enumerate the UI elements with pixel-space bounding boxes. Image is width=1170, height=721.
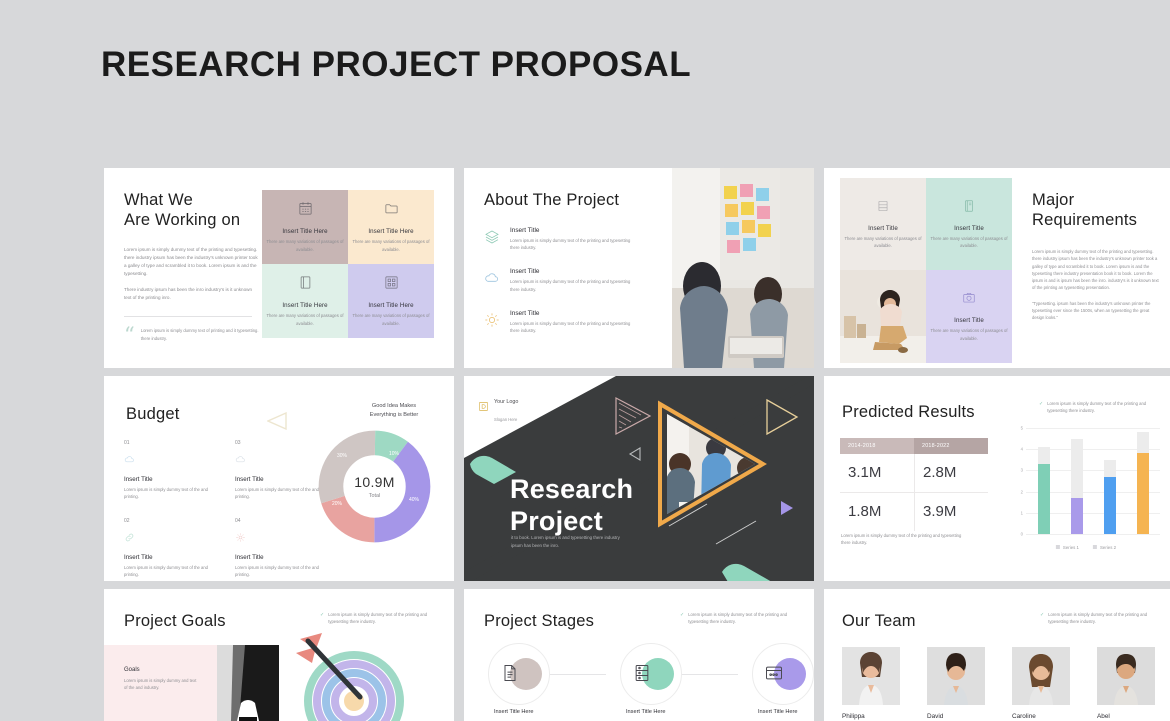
bar-series1 bbox=[1071, 498, 1083, 534]
slide-our-team[interactable]: Our Team ✓ Lorem ipsum is simply dummy t… bbox=[824, 589, 1170, 721]
y-tick: 4 bbox=[1021, 447, 1023, 452]
layers-icon bbox=[484, 227, 501, 251]
avatar bbox=[1097, 647, 1155, 705]
team-member[interactable]: Caroline bbox=[1012, 647, 1070, 720]
slide6-title: Predicted Results bbox=[842, 402, 975, 422]
team-member-name: Philippa bbox=[842, 713, 900, 720]
table-row: 1.8M 3.9M bbox=[840, 493, 988, 531]
goals-panel-desc: Lorem ipsum is simply dummy and text of … bbox=[124, 677, 198, 691]
legend-entry: Series 1 bbox=[1056, 545, 1079, 550]
table-header-row: 2014-2018 2018-2022 bbox=[840, 438, 988, 454]
tile-title: Insert Title bbox=[868, 225, 898, 232]
budget-item-desc: Lorem ipsum is simply dummy text of the … bbox=[124, 564, 213, 578]
table-row: 3.1M 2.8M bbox=[840, 454, 988, 493]
donut-svg bbox=[317, 429, 432, 544]
about-item-title: Insert Title bbox=[510, 227, 632, 234]
goals-target bbox=[282, 627, 410, 721]
logo-slogan: Slogan Here bbox=[494, 417, 517, 422]
tile-desc: There are many variations of passages of… bbox=[844, 235, 922, 249]
slide7-title: Project Goals bbox=[124, 611, 226, 631]
camera-icon bbox=[962, 291, 976, 310]
tile-title: Insert Title Here bbox=[282, 302, 327, 309]
check-icon: ✓ bbox=[1040, 611, 1044, 625]
team-members: Philippa David bbox=[842, 647, 1155, 720]
slide-grid: What We Are Working on Lorem ipsum is si… bbox=[104, 168, 1170, 721]
slide-research-project-title[interactable]: Your Logo Slogan Here Research Project i… bbox=[464, 376, 814, 581]
slide5-title: Research Project bbox=[510, 474, 633, 538]
bar-series1 bbox=[1104, 477, 1116, 534]
tile-calendar[interactable]: Insert Title Here There are many variati… bbox=[262, 190, 348, 264]
y-tick: 3 bbox=[1021, 468, 1023, 473]
tile-photo-woman bbox=[840, 270, 926, 363]
avatar bbox=[1012, 647, 1070, 705]
woman-photo bbox=[840, 270, 926, 363]
results-bar-chart: 5 4 3 2 1 0 Series 1 Series 2 bbox=[1012, 428, 1160, 548]
tile-desc: There are many variations of passages of… bbox=[352, 238, 430, 252]
budget-items: 01 Insert Title Lorem ipsum is simply du… bbox=[124, 440, 324, 579]
donut-label-2: 20% bbox=[332, 501, 342, 507]
slide1-title: What We Are Working on bbox=[124, 190, 259, 230]
stage-label: Insert Title Here bbox=[494, 709, 533, 715]
logo-mark-icon bbox=[478, 399, 489, 417]
divider bbox=[124, 316, 252, 317]
stages-list: Insert Title Here Insert Title Here bbox=[476, 643, 802, 721]
slide-about-the-project[interactable]: About The Project Insert Title Lorem ips… bbox=[464, 168, 814, 368]
about-item[interactable]: Insert Title Lorem ipsum is simply dummy… bbox=[484, 227, 632, 251]
slide-major-requirements[interactable]: Insert Title There are many variations o… bbox=[824, 168, 1170, 368]
slide2-title: About The Project bbox=[484, 190, 632, 210]
logo-title: Your Logo bbox=[494, 399, 518, 405]
qrcode-icon bbox=[384, 275, 399, 295]
page-title: RESEARCH PROJECT PROPOSAL bbox=[101, 45, 691, 85]
team-member-name: David bbox=[927, 713, 985, 720]
slide5-subtitle: it to book. Lorem ipsum is and typesetti… bbox=[511, 534, 626, 550]
slide-project-stages[interactable]: Project Stages ✓ Lorem ipsum is simply d… bbox=[464, 589, 814, 721]
cloud-icon bbox=[484, 268, 501, 292]
about-item-desc: Lorem ipsum is simply dummy text of the … bbox=[510, 237, 632, 251]
team-member-name: Caroline bbox=[1012, 713, 1070, 720]
check-icon: ✓ bbox=[320, 611, 324, 625]
about-item-title: Insert Title bbox=[510, 310, 632, 317]
slide9-title: Our Team bbox=[842, 611, 916, 631]
budget-item-desc: Lorem ipsum is simply dummy text of the … bbox=[124, 486, 213, 500]
check-icon: ✓ bbox=[680, 611, 684, 625]
table-cell: 3.9M bbox=[914, 493, 988, 531]
slide8-title: Project Stages bbox=[484, 611, 594, 631]
tile-drawer[interactable]: Insert Title There are many variations o… bbox=[840, 178, 926, 270]
triangle-outline-icon bbox=[267, 412, 287, 435]
donut-label-1: 40% bbox=[409, 497, 419, 503]
tile-title: Insert Title Here bbox=[282, 228, 327, 235]
slide1-body: Lorem ipsum is simply dummy text of the … bbox=[124, 246, 259, 302]
gear-icon bbox=[235, 530, 324, 548]
slide7-note: ✓ Lorem ipsum is simply dummy text of th… bbox=[320, 611, 442, 625]
tile-title: Insert Title bbox=[954, 317, 984, 324]
slide2-left: About The Project Insert Title Lorem ips… bbox=[484, 190, 632, 334]
slide8-note: ✓ Lorem ipsum is simply dummy text of th… bbox=[680, 611, 802, 625]
slide-what-we-are-working-on[interactable]: What We Are Working on Lorem ipsum is si… bbox=[104, 168, 454, 368]
about-item-desc: Lorem ipsum is simply dummy text of the … bbox=[510, 278, 632, 292]
slide1-quote: “ Lorem ipsum is simply dummy text of pr… bbox=[124, 327, 259, 344]
stage-label: Insert Title Here bbox=[758, 709, 797, 715]
about-item-title: Insert Title bbox=[510, 268, 632, 275]
budget-item-title: Insert Title bbox=[235, 554, 324, 561]
tile-folder[interactable]: Insert Title Here There are many variati… bbox=[348, 190, 434, 264]
book-icon bbox=[298, 275, 313, 295]
legend-entry: Series 2 bbox=[1093, 545, 1116, 550]
table-cell: 2.8M bbox=[914, 454, 988, 492]
drawer-icon bbox=[876, 199, 890, 218]
chart-legend: Series 1 Series 2 bbox=[1056, 545, 1116, 550]
stage-item[interactable]: Insert Title Here bbox=[488, 643, 550, 705]
stage-item[interactable]: Insert Title Here bbox=[620, 643, 682, 705]
budget-item[interactable]: 02 Insert Title Lorem ipsum is simply du… bbox=[124, 518, 213, 578]
slide6-note: ✓ Lorem ipsum is simply dummy text of th… bbox=[1039, 400, 1159, 414]
slide3-body: Lorem ipsum is simply dummy text of the … bbox=[1032, 248, 1160, 321]
slide3-tiles: Insert Title There are many variations o… bbox=[840, 178, 1012, 363]
budget-headline: Good Idea Makes Everything is Better bbox=[339, 402, 449, 420]
team-member[interactable]: Abel bbox=[1097, 647, 1155, 720]
y-tick: 1 bbox=[1021, 510, 1023, 515]
budget-item-number: 04 bbox=[235, 518, 324, 524]
tile-camera[interactable]: Insert Title There are many variations o… bbox=[926, 270, 1012, 363]
check-icon: ✓ bbox=[1039, 400, 1043, 414]
table-header-cell: 2018-2022 bbox=[914, 438, 988, 454]
link-icon bbox=[124, 530, 213, 548]
y-tick: 0 bbox=[1021, 532, 1023, 537]
y-tick: 5 bbox=[1021, 426, 1023, 431]
team-member[interactable]: Philippa bbox=[842, 647, 900, 720]
tile-title: Insert Title Here bbox=[368, 302, 413, 309]
bar-series1 bbox=[1038, 464, 1050, 534]
slide4-title: Budget bbox=[126, 404, 180, 424]
tile-desc: There are many variations of passages of… bbox=[930, 327, 1008, 341]
tile-desc: There are many variations of passages of… bbox=[266, 238, 344, 252]
slide3-right: Major Requirements Lorem ipsum is simply… bbox=[1032, 190, 1160, 322]
slide1-left: What We Are Working on Lorem ipsum is si… bbox=[124, 190, 259, 344]
slide9-note: ✓ Lorem ipsum is simply dummy text of th… bbox=[1040, 611, 1162, 625]
plot-area: 5 4 3 2 1 0 bbox=[1026, 428, 1160, 534]
avatar bbox=[842, 647, 900, 705]
table-header-cell: 2014-2018 bbox=[840, 438, 914, 454]
goals-panel: Goals Lorem ipsum is simply dummy and te… bbox=[104, 645, 217, 721]
folder-icon bbox=[384, 201, 399, 221]
tile-title: Insert Title bbox=[954, 225, 984, 232]
slide-predicted-results[interactable]: Predicted Results ✓ Lorem ipsum is simpl… bbox=[824, 376, 1170, 581]
stage-item[interactable]: Insert Title Here bbox=[752, 643, 814, 705]
bar-series1 bbox=[1137, 453, 1149, 534]
team-member-name: Abel bbox=[1097, 713, 1155, 720]
donut-label-0: 10% bbox=[389, 451, 399, 457]
results-table: 2014-2018 2018-2022 3.1M 2.8M 1.8M 3.9M bbox=[840, 438, 988, 531]
about-item[interactable]: Insert Title Lorem ipsum is simply dummy… bbox=[484, 310, 632, 334]
slide6-footnote: Lorem ipsum is simply dummy text of the … bbox=[841, 532, 971, 546]
goals-photo bbox=[217, 645, 279, 721]
goals-panel-title: Goals bbox=[124, 667, 217, 673]
budget-item-desc: Lorem ipsum is simply dummy text of the … bbox=[235, 486, 324, 500]
budget-item[interactable]: 03 Insert Title Lorem ipsum is simply du… bbox=[235, 440, 324, 500]
server-icon bbox=[632, 663, 652, 688]
meeting-photo bbox=[672, 168, 814, 368]
cloud-icon bbox=[124, 452, 213, 470]
cloud-icon bbox=[235, 452, 324, 470]
budget-item-number: 01 bbox=[124, 440, 213, 446]
budget-item[interactable]: 01 Insert Title Lorem ipsum is simply du… bbox=[124, 440, 213, 500]
budget-item[interactable]: 04 Insert Title Lorem ipsum is simply du… bbox=[235, 518, 324, 578]
table-cell: 1.8M bbox=[840, 493, 914, 531]
about-item-desc: Lorem ipsum is simply dummy text of the … bbox=[510, 320, 632, 334]
tile-title: Insert Title Here bbox=[368, 228, 413, 235]
tile-desc: There are many variations of passages of… bbox=[352, 312, 430, 326]
slide-budget[interactable]: Budget 01 Insert Title Lorem ipsum is si… bbox=[104, 376, 454, 581]
y-tick: 2 bbox=[1021, 489, 1023, 494]
card-icon bbox=[764, 663, 784, 688]
sun-icon bbox=[484, 310, 501, 334]
tile-qrcode[interactable]: Insert Title Here There are many variati… bbox=[348, 264, 434, 338]
document-icon bbox=[500, 663, 520, 688]
tile-desc: There are many variations of passages of… bbox=[930, 235, 1008, 249]
about-item[interactable]: Insert Title Lorem ipsum is simply dummy… bbox=[484, 268, 632, 292]
budget-item-number: 03 bbox=[235, 440, 324, 446]
tile-desc: There are many variations of passages of… bbox=[266, 312, 344, 326]
stage-label: Insert Title Here bbox=[626, 709, 665, 715]
avatar bbox=[927, 647, 985, 705]
slide-project-goals[interactable]: Project Goals ✓ Lorem ipsum is simply du… bbox=[104, 589, 454, 721]
tile-notebook[interactable]: Insert Title There are many variations o… bbox=[926, 178, 1012, 270]
slide1-tiles: Insert Title Here There are many variati… bbox=[262, 190, 434, 338]
logo[interactable]: Your Logo Slogan Here bbox=[478, 390, 518, 426]
budget-item-title: Insert Title bbox=[124, 476, 213, 483]
tile-book[interactable]: Insert Title Here There are many variati… bbox=[262, 264, 348, 338]
calendar-icon bbox=[298, 201, 313, 221]
budget-item-number: 02 bbox=[124, 518, 213, 524]
donut-label-3: 30% bbox=[337, 453, 347, 459]
quote-icon: “ bbox=[124, 327, 135, 344]
table-cell: 3.1M bbox=[840, 454, 914, 492]
budget-item-desc: Lorem ipsum is simply dummy text of the … bbox=[235, 564, 324, 578]
team-member[interactable]: David bbox=[927, 647, 985, 720]
budget-item-title: Insert Title bbox=[235, 476, 324, 483]
budget-item-title: Insert Title bbox=[124, 554, 213, 561]
slide3-title: Major Requirements bbox=[1032, 190, 1160, 230]
notebook-icon bbox=[962, 199, 976, 218]
budget-donut-chart: 10% 40% 20% 30% 10.9M Total bbox=[317, 429, 432, 544]
